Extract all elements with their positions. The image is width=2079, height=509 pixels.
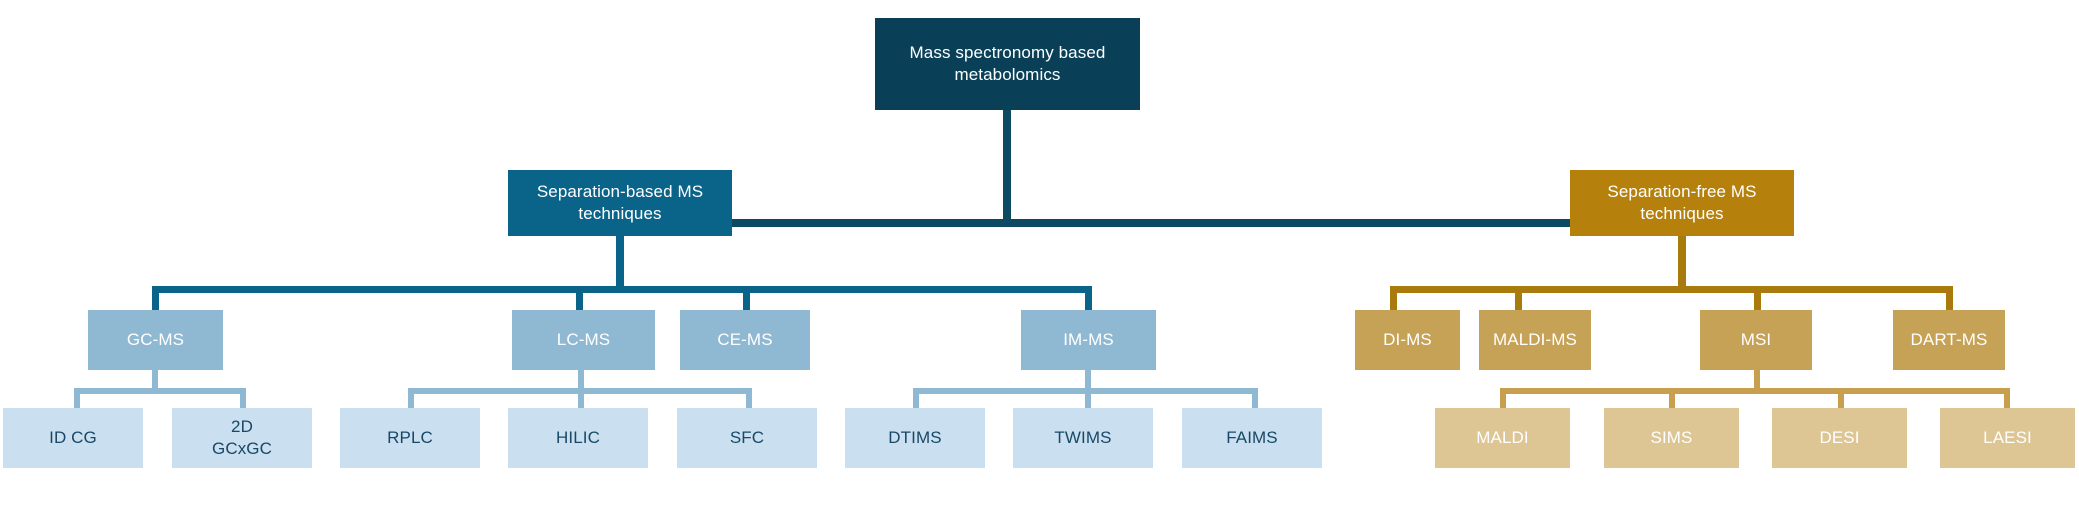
node-hilic-label: HILIC	[550, 427, 606, 449]
connector-drop-maldi	[1500, 388, 1506, 410]
node-sims: SIMS	[1604, 408, 1739, 468]
connector-lc-ms-stem	[578, 370, 584, 390]
connector-gc-ms-bar	[74, 388, 246, 394]
node-di-ms-label: DI-MS	[1377, 329, 1438, 351]
node-sfc: SFC	[677, 408, 817, 468]
node-rplc: RPLC	[340, 408, 480, 468]
connector-msi-bar	[1500, 388, 2010, 394]
connector-level2-spine	[729, 219, 1574, 227]
connector-drop-gc-ms	[152, 286, 159, 311]
node-lc-ms-label: LC-MS	[551, 329, 616, 351]
connector-drop-di-ms	[1390, 286, 1397, 311]
node-desi: DESI	[1772, 408, 1907, 468]
connector-drop-hilic	[578, 388, 584, 410]
connector-drop-msi	[1754, 286, 1761, 311]
node-dart-ms-label: DART-MS	[1905, 329, 1994, 351]
node-twims-label: TWIMS	[1048, 427, 1117, 449]
connector-drop-id-cg	[74, 388, 80, 410]
connector-drop-sfc	[746, 388, 752, 410]
node-faims: FAIMS	[1182, 408, 1322, 468]
node-im-ms: IM-MS	[1021, 310, 1156, 370]
connector-drop-dart-ms	[1946, 286, 1953, 311]
node-dart-ms: DART-MS	[1893, 310, 2005, 370]
node-2d-gcxgc: 2D GCxGC	[172, 408, 312, 468]
node-desi-label: DESI	[1813, 427, 1865, 449]
node-root-label: Mass spectronomy based metabolomics	[904, 42, 1112, 86]
node-id-cg: ID CG	[3, 408, 143, 468]
connector-im-ms-stem	[1085, 370, 1091, 390]
connector-drop-2d-gcxgc	[240, 388, 246, 410]
node-gc-ms-label: GC-MS	[121, 329, 190, 351]
node-dtims: DTIMS	[845, 408, 985, 468]
connector-drop-sims	[1669, 388, 1675, 410]
node-separation-based-ms-techniques: Separation-based MS techniques	[508, 170, 732, 236]
node-im-ms-label: IM-MS	[1057, 329, 1120, 351]
node-maldi-ms-label: MALDI-MS	[1487, 329, 1583, 351]
connector-level3-blue-bar	[152, 286, 1092, 293]
node-maldi-label: MALDI	[1470, 427, 1534, 449]
node-id-cg-label: ID CG	[43, 427, 103, 449]
connector-drop-faims	[1252, 388, 1258, 410]
node-2d-gcxgc-label: 2D GCxGC	[206, 416, 278, 460]
connector-separation-free-stem	[1678, 236, 1686, 290]
mass-spectrometry-metabolomics-tree-diagram: Mass spectronomy based metabolomics Sepa…	[0, 0, 2079, 509]
node-sfc-label: SFC	[724, 427, 770, 449]
node-separation-free-label: Separation-free MS techniques	[1601, 181, 1762, 225]
connector-drop-ce-ms	[743, 286, 750, 311]
connector-drop-lc-ms	[576, 286, 583, 311]
node-laesi-label: LAESI	[1977, 427, 2038, 449]
connector-separation-based-stem	[616, 236, 624, 290]
node-maldi: MALDI	[1435, 408, 1570, 468]
connector-drop-dtims	[913, 388, 919, 410]
node-ce-ms-label: CE-MS	[711, 329, 778, 351]
node-rplc-label: RPLC	[381, 427, 439, 449]
connector-gc-ms-stem	[152, 370, 158, 390]
connector-root-stem	[1003, 110, 1011, 226]
node-lc-ms: LC-MS	[512, 310, 655, 370]
node-hilic: HILIC	[508, 408, 648, 468]
connector-drop-laesi	[2004, 388, 2010, 410]
node-faims-label: FAIMS	[1220, 427, 1284, 449]
node-root-mass-spectrometry-metabolomics: Mass spectronomy based metabolomics	[875, 18, 1140, 110]
connector-drop-maldi-ms	[1515, 286, 1522, 311]
connector-msi-stem	[1754, 370, 1760, 390]
node-sims-label: SIMS	[1645, 427, 1699, 449]
node-separation-free-ms-techniques: Separation-free MS techniques	[1570, 170, 1794, 236]
node-di-ms: DI-MS	[1355, 310, 1460, 370]
connector-drop-rplc	[408, 388, 414, 410]
node-ce-ms: CE-MS	[680, 310, 810, 370]
node-dtims-label: DTIMS	[882, 427, 947, 449]
node-separation-based-label: Separation-based MS techniques	[531, 181, 709, 225]
node-laesi: LAESI	[1940, 408, 2075, 468]
connector-drop-desi	[1838, 388, 1844, 410]
node-gc-ms: GC-MS	[88, 310, 223, 370]
node-msi: MSI	[1700, 310, 1812, 370]
connector-level3-gold-bar	[1390, 286, 1953, 293]
connector-drop-twims	[1085, 388, 1091, 410]
connector-drop-im-ms	[1085, 286, 1092, 311]
node-twims: TWIMS	[1013, 408, 1153, 468]
node-maldi-ms: MALDI-MS	[1479, 310, 1591, 370]
node-msi-label: MSI	[1735, 329, 1778, 351]
